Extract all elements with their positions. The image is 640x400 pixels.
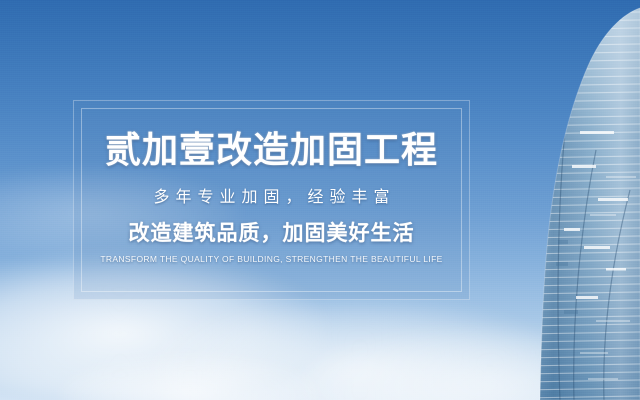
banner-text-panel: 贰加壹改造加固工程 多年专业加固，经验丰富 改造建筑品质，加固美好生活 TRAN… (73, 100, 470, 300)
banner-headline: 贰加壹改造加固工程 (105, 133, 438, 169)
banner-tagline: 改造建筑品质，加固美好生活 (129, 223, 415, 244)
skyscraper-icon (480, 0, 640, 400)
banner-subline: 多年专业加固，经验丰富 (147, 189, 395, 205)
banner-image: 贰加壹改造加固工程 多年专业加固，经验丰富 改造建筑品质，加固美好生活 TRAN… (0, 0, 640, 400)
banner-text-content: 贰加壹改造加固工程 多年专业加固，经验丰富 改造建筑品质，加固美好生活 TRAN… (74, 101, 469, 299)
banner-english-subtitle: TRANSFORM THE QUALITY OF BUILDING, STREN… (100, 255, 442, 264)
